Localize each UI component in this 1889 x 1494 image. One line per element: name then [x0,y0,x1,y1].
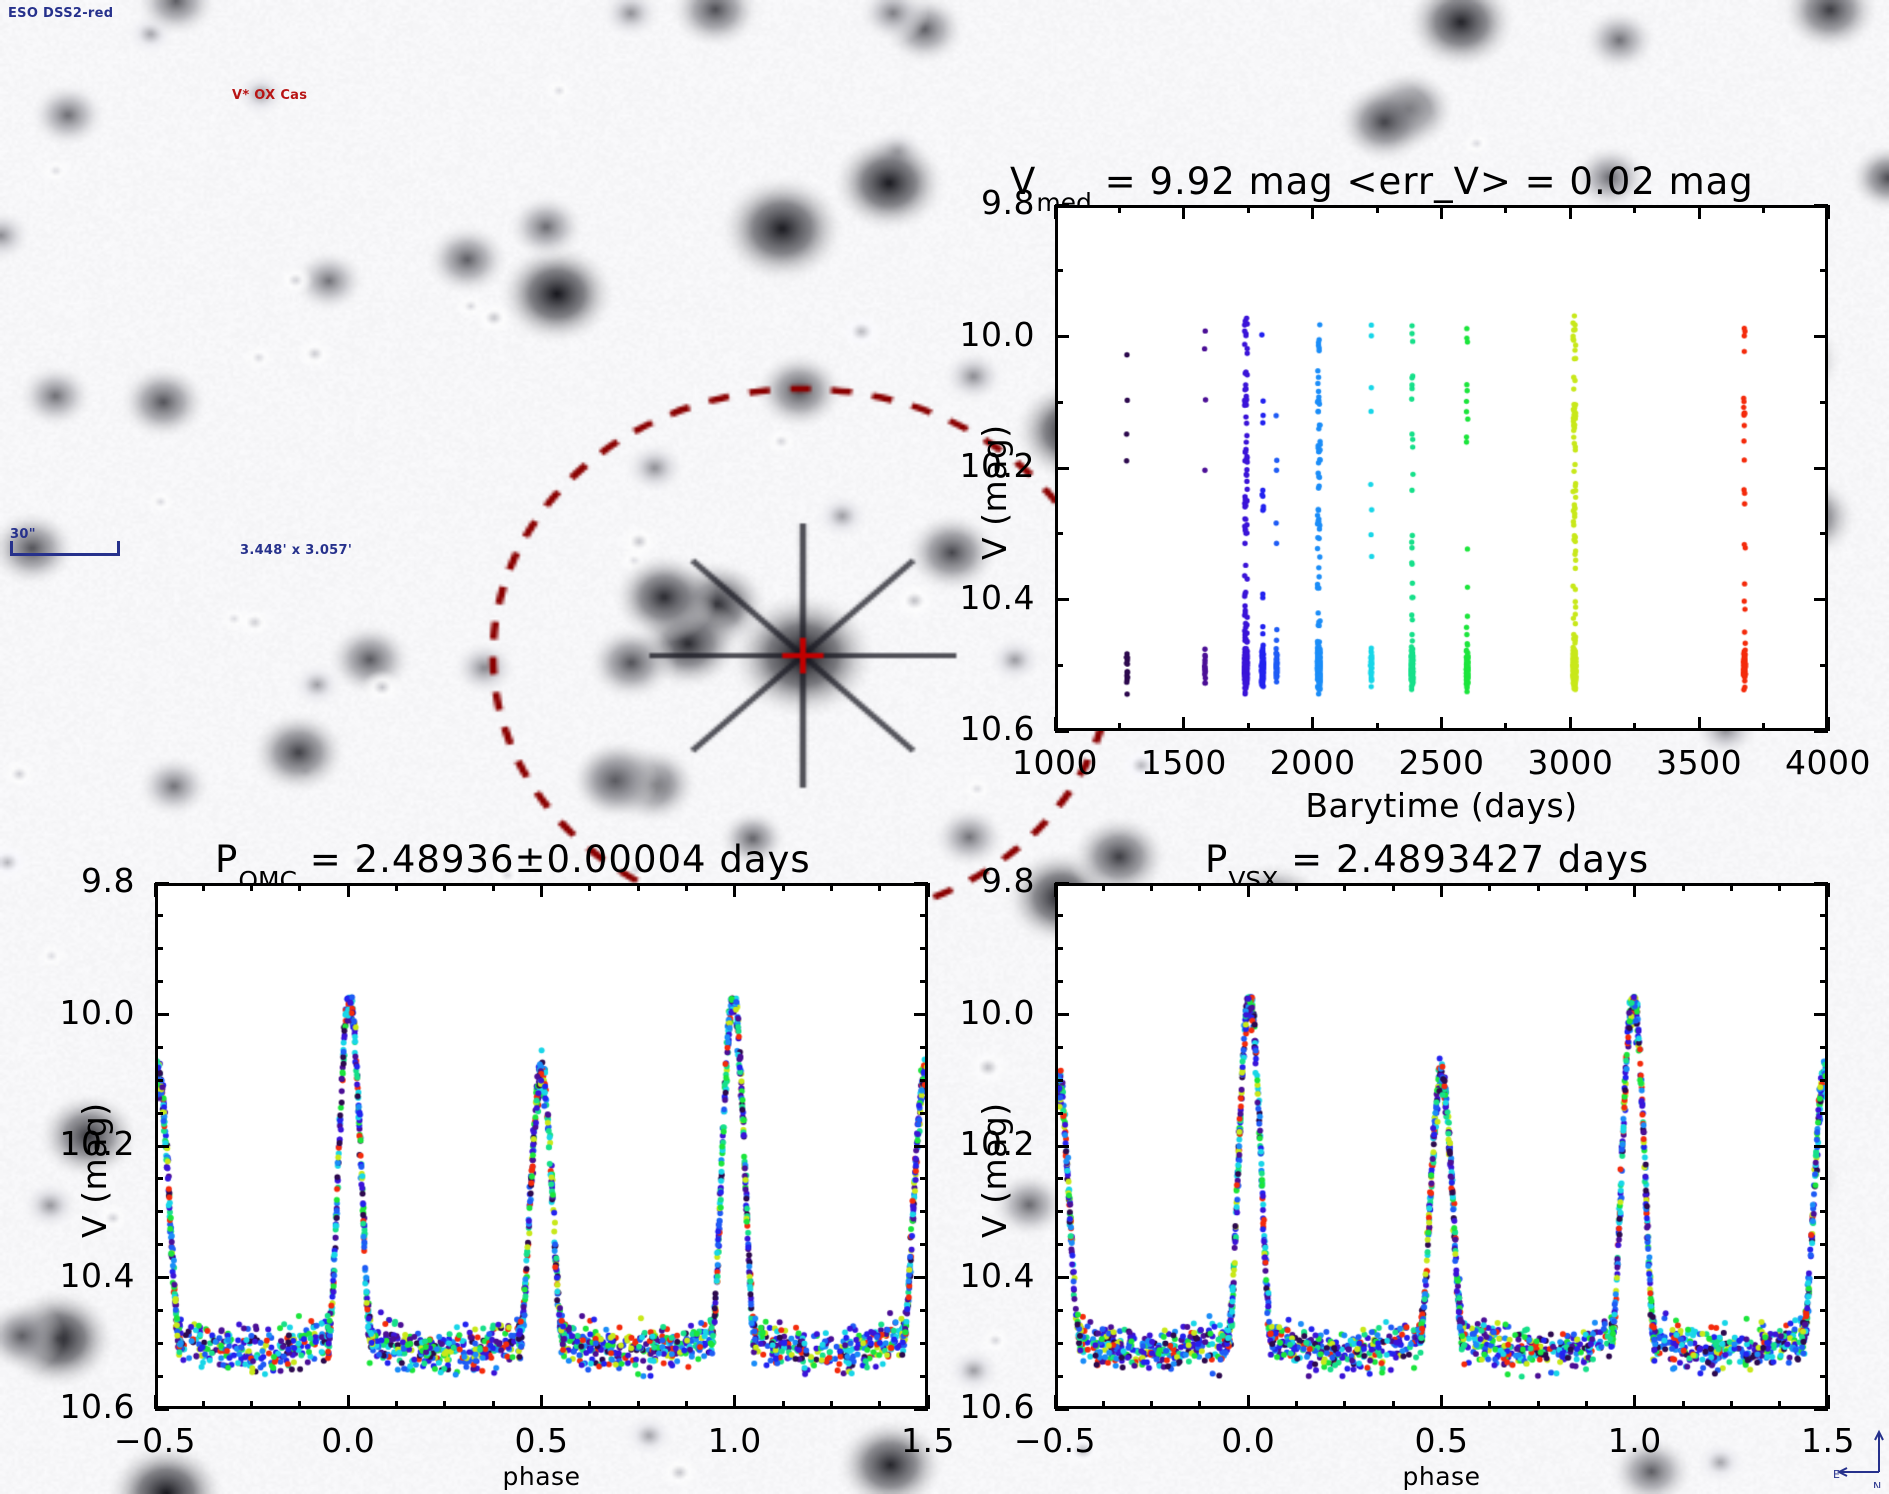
x-tick-minor-top [1247,205,1250,213]
x-tick-minor-top [637,883,640,891]
x-tick-major-top [1698,205,1701,219]
y-tick-minor [155,1112,163,1115]
omc-panel-title: POMC = 2.48936±0.00004 days [215,838,811,886]
y-tick-minor [1055,1210,1063,1213]
x-tick-minor-top [1730,883,1733,891]
x-tick-minor-top [1762,205,1765,213]
x-tick-minor [1295,1401,1298,1409]
y-tick-minor [155,1177,163,1180]
x-tick-major [1569,717,1572,731]
x-tick-minor [1488,1401,1491,1409]
x-tick-major [347,1395,350,1409]
vsx-ylabel: V (mag) [975,1102,1014,1238]
y-tick-label: 10.2 [0,1124,135,1163]
x-tick-minor [1376,723,1379,731]
x-tick-minor-top [1376,205,1379,213]
x-tick-minor-top [1118,205,1121,213]
y-tick-label: 10.6 [875,709,1035,748]
x-tick-minor [685,1401,688,1409]
x-tick-major [1311,717,1314,731]
x-tick-minor [492,1401,495,1409]
y-tick-minor-right [1820,1046,1828,1049]
x-tick-major [1182,717,1185,731]
x-tick-major-top [1054,883,1057,897]
y-tick-minor-right [920,914,928,917]
x-tick-major-top [1827,883,1830,897]
x-tick-major [1440,1395,1443,1409]
x-tick-major-top [1054,205,1057,219]
x-tick-label: 1500 [1114,743,1254,782]
x-tick-minor [830,1401,833,1409]
vsx-panel-title: PVSX = 2.4893427 days [1205,838,1649,886]
y-tick-minor-right [920,1309,928,1312]
x-tick-major-top [1311,205,1314,219]
y-tick-label: 10.0 [875,993,1035,1032]
x-tick-major [1440,717,1443,731]
y-tick-minor-right [920,1210,928,1213]
x-tick-minor [1730,1401,1733,1409]
x-tick-label: 3500 [1629,743,1769,782]
x-tick-minor [298,1401,301,1409]
x-tick-major [1247,1395,1250,1409]
y-tick-major [1055,204,1069,207]
x-tick-minor [1102,1401,1105,1409]
y-tick-minor-right [1820,914,1828,917]
y-tick-minor [155,1309,163,1312]
x-tick-minor-top [1392,883,1395,891]
pomc-symbol: P [215,838,238,881]
y-tick-minor [1055,1112,1063,1115]
vsx-plot-area [1055,883,1828,1409]
omc-ylabel: V (mag) [75,1102,114,1238]
x-tick-minor-top [202,883,205,891]
y-tick-minor-right [920,1046,928,1049]
vmed-value-text: = 9.92 mag <err_V> = 0.02 mag [1092,160,1754,203]
y-tick-minor-right [920,1177,928,1180]
y-tick-minor [155,1046,163,1049]
x-tick-minor [395,1401,398,1409]
y-tick-major-right [1814,1145,1828,1148]
y-tick-minor-right [1820,401,1828,404]
y-tick-major [1055,730,1069,733]
x-tick-major-top [1569,205,1572,219]
y-tick-major [155,1145,169,1148]
vsx-points [1058,886,1825,1406]
y-tick-major-right [1814,335,1828,338]
x-tick-major-top [1633,883,1636,897]
y-tick-minor-right [1820,947,1828,950]
y-tick-major-right [1814,598,1828,601]
omc-xlabel: phase [155,1462,928,1491]
x-tick-minor [1150,1401,1153,1409]
x-tick-minor-top [1102,883,1105,891]
dss-sky-image [0,0,646,594]
y-tick-minor [155,1210,163,1213]
y-tick-minor [1055,664,1063,667]
field-size-label: 3.448' x 3.057' [240,543,352,558]
x-tick-minor-top [395,883,398,891]
y-tick-minor [1055,980,1063,983]
y-tick-label: 10.4 [875,1256,1035,1295]
x-tick-label: 4000 [1758,743,1889,782]
x-tick-label: 1000 [985,743,1125,782]
y-tick-minor [1055,1309,1063,1312]
y-tick-major [1055,1408,1069,1411]
y-tick-minor [1055,269,1063,272]
y-tick-minor-right [920,980,928,983]
x-tick-label: 0.0 [278,1421,418,1460]
y-tick-minor [155,1375,163,1378]
x-tick-minor-top [1150,883,1153,891]
x-tick-minor-top [1504,205,1507,213]
x-tick-minor-top [443,883,446,891]
y-tick-major [1055,1145,1069,1148]
lightcurve-panel-title: Vmed = 9.92 mag <err_V> = 0.02 mag [1010,160,1754,208]
x-tick-label: −0.5 [85,1421,225,1460]
y-tick-minor-right [920,1375,928,1378]
y-tick-minor-right [1820,1210,1828,1213]
y-tick-minor-right [1820,1309,1828,1312]
y-tick-major-right [1814,1408,1828,1411]
x-tick-label: 0.5 [1372,1421,1512,1460]
y-tick-minor-right [1820,980,1828,983]
scale-bar-tick-left [10,541,13,555]
y-tick-major [155,882,169,885]
y-tick-minor [155,1243,163,1246]
survey-label: ESO DSS2-red [8,6,113,21]
y-tick-major-right [1814,1013,1828,1016]
x-tick-major-top [347,883,350,897]
x-tick-minor [1343,1401,1346,1409]
x-tick-major-top [1827,205,1830,219]
x-tick-major-top [540,883,543,897]
y-tick-label: 10.6 [0,1387,135,1426]
y-tick-minor [1055,1375,1063,1378]
x-tick-minor-top [685,883,688,891]
x-tick-minor [250,1401,253,1409]
y-tick-label: 10.0 [875,315,1035,354]
y-tick-minor [1055,1243,1063,1246]
omc-points [158,886,925,1406]
x-tick-major-top [733,883,736,897]
pvsx-symbol: P [1205,838,1228,881]
y-tick-minor-right [1820,664,1828,667]
x-tick-minor [1762,723,1765,731]
y-tick-minor-right [1820,1112,1828,1115]
lightcurve-plot-area [1055,205,1828,731]
omc-plot-area [155,883,928,1409]
y-tick-major-right [1814,467,1828,470]
y-tick-minor-right [1820,1243,1828,1246]
y-tick-major [1055,467,1069,470]
x-tick-minor [1682,1401,1685,1409]
x-tick-label: 0.5 [472,1421,612,1460]
y-tick-major-right [1814,1276,1828,1279]
y-tick-major-right [1814,204,1828,207]
x-tick-major-top [1440,205,1443,219]
y-tick-label: 9.8 [875,183,1035,222]
x-tick-major [1698,717,1701,731]
y-tick-minor-right [1820,1079,1828,1082]
y-tick-minor [1055,1177,1063,1180]
y-tick-label: 10.6 [875,1387,1035,1426]
x-tick-minor [1633,723,1636,731]
x-tick-minor-top [250,883,253,891]
y-tick-major-right [1814,730,1828,733]
x-tick-label: 1.0 [665,1421,805,1460]
x-tick-major-top [1247,883,1250,897]
x-tick-minor-top [298,883,301,891]
x-tick-major-top [1182,205,1185,219]
lightcurve-points [1058,208,1825,728]
lightcurve-xlabel: Barytime (days) [1055,786,1828,825]
y-tick-minor [155,980,163,983]
x-tick-minor [637,1401,640,1409]
finding-chart: ESO DSS2-red V* OX Cas 30" 3.448' x 3.05… [0,0,646,594]
y-tick-minor [1055,1046,1063,1049]
x-tick-minor-top [1198,883,1201,891]
x-tick-minor-top [830,883,833,891]
y-tick-minor-right [920,1243,928,1246]
scale-bar-label: 30" [10,527,36,542]
y-tick-minor [1055,401,1063,404]
y-tick-minor [155,914,163,917]
x-tick-major [1633,1395,1636,1409]
y-tick-label: 10.0 [0,993,135,1032]
x-tick-label: 1.0 [1565,1421,1705,1460]
x-tick-minor-top [1488,883,1491,891]
x-tick-minor [1118,723,1121,731]
x-tick-minor-top [1295,883,1298,891]
x-tick-minor-top [782,883,785,891]
x-tick-label: 2000 [1243,743,1383,782]
x-tick-major-top [1440,883,1443,897]
object-label: V* OX Cas [232,88,307,103]
x-tick-minor [1198,1401,1201,1409]
x-tick-label: 1.5 [1758,1421,1889,1460]
y-tick-minor [1055,1079,1063,1082]
vsx-xlabel: phase [1055,1462,1828,1491]
x-tick-minor [1778,1401,1781,1409]
y-tick-label: 10.4 [875,578,1035,617]
x-tick-minor [1504,723,1507,731]
y-tick-minor-right [1820,1375,1828,1378]
x-tick-minor-top [492,883,495,891]
x-tick-major [733,1395,736,1409]
scale-bar [10,553,120,556]
y-tick-minor [1055,1342,1063,1345]
x-tick-label: 1.5 [858,1421,998,1460]
y-tick-minor-right [920,1079,928,1082]
x-tick-minor-top [1343,883,1346,891]
y-tick-major [1055,1013,1069,1016]
lightcurve-ylabel: V (mag) [975,424,1014,560]
y-tick-label: 9.8 [0,861,135,900]
x-tick-major-top [154,883,157,897]
x-tick-minor-top [1633,205,1636,213]
x-tick-minor [1392,1401,1395,1409]
y-tick-minor [1055,947,1063,950]
x-tick-minor-top [1537,883,1540,891]
x-tick-minor [1247,723,1250,731]
y-tick-major-right [1814,882,1828,885]
y-tick-minor-right [1820,269,1828,272]
y-tick-minor-right [920,1112,928,1115]
scale-bar-tick-right [117,541,120,555]
y-tick-minor-right [1820,1342,1828,1345]
x-tick-minor-top [1778,883,1781,891]
y-tick-label: 10.4 [0,1256,135,1295]
y-tick-minor [155,1079,163,1082]
y-tick-major [155,1276,169,1279]
x-tick-minor [1585,1401,1588,1409]
y-tick-major [155,1408,169,1411]
y-tick-minor [1055,532,1063,535]
y-tick-minor [155,947,163,950]
x-tick-minor [588,1401,591,1409]
x-tick-major [540,1395,543,1409]
pvsx-value-text: = 2.4893427 days [1278,838,1649,881]
y-tick-major [1055,882,1069,885]
y-tick-minor-right [1820,1177,1828,1180]
x-tick-minor [1537,1401,1540,1409]
x-tick-label: 2500 [1372,743,1512,782]
y-tick-minor-right [920,1342,928,1345]
y-tick-minor-right [1820,532,1828,535]
y-tick-minor [155,1342,163,1345]
y-tick-major [1055,598,1069,601]
y-tick-major [155,1013,169,1016]
y-tick-major [1055,1276,1069,1279]
x-tick-label: −0.5 [985,1421,1125,1460]
x-tick-label: 3000 [1500,743,1640,782]
x-tick-minor-top [1585,883,1588,891]
y-tick-label: 9.8 [875,861,1035,900]
x-tick-minor [202,1401,205,1409]
y-tick-major [1055,335,1069,338]
x-tick-minor-top [1682,883,1685,891]
x-tick-minor-top [588,883,591,891]
x-tick-minor [782,1401,785,1409]
y-tick-minor-right [920,947,928,950]
x-tick-minor [443,1401,446,1409]
pomc-value-text: = 2.48936±0.00004 days [297,838,811,881]
y-tick-minor [1055,914,1063,917]
x-tick-label: 0.0 [1178,1421,1318,1460]
